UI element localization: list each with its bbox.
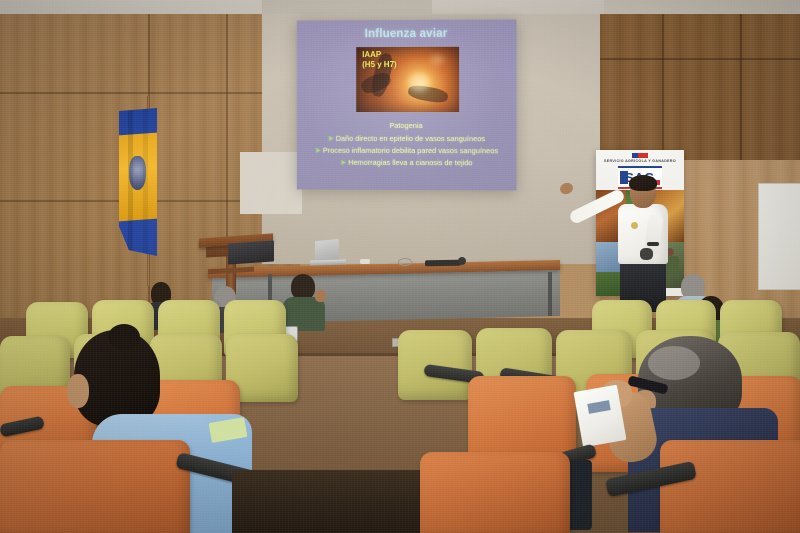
slide-photo-tissue: IAAP (H5 y H7) [356, 47, 459, 112]
slide-bullet-1: ➤Daño directo en epitelio de vasos sangu… [297, 133, 517, 145]
slide-body: Patogenia ➤Daño directo en epitelio de v… [297, 120, 517, 169]
table-cable-loop [398, 258, 412, 266]
attendee-ear [67, 374, 89, 408]
handout-paper [573, 385, 626, 448]
banner-tagline: SERVICIO AGRÍCOLA Y GANADERO [596, 159, 684, 163]
bullet-marker-icon: ➤ [328, 134, 334, 143]
slide-bullet-3-text: Hemorragias lleva a cianosis de tejido [348, 158, 472, 167]
ceiling-soffit-step [262, 0, 432, 14]
slide-photo-label-line1: IAAP [362, 50, 381, 59]
presenter [600, 170, 684, 310]
table-round-object [458, 257, 466, 265]
bullet-marker-icon: ➤ [315, 146, 321, 155]
slide-section-heading: Patogenia [297, 120, 517, 132]
slide-bullet-2: ➤Proceso inflamatorio debilita pared vas… [297, 145, 517, 158]
slide-bullet-2-text: Proceso inflamatorio debilita pared vaso… [323, 146, 498, 155]
whiteboard-panel [758, 183, 800, 290]
auditorium-photo: Influenza aviar IAAP (H5 y H7) Patogenia… [0, 0, 800, 533]
slide-bullet-1-text: Daño directo en epitelio de vasos sanguí… [336, 134, 485, 143]
slide-bullet-3: ➤Hemorragias lleva a cianosis de tejido [297, 157, 517, 170]
slide-title: Influenza aviar [297, 28, 517, 41]
chair-orange[interactable] [660, 440, 800, 533]
table-small-object [360, 259, 370, 264]
regional-flag [119, 108, 157, 256]
table-dark-object [425, 260, 461, 267]
slide-photo-label: IAAP (H5 y H7) [362, 50, 397, 70]
lectern-laptop [228, 240, 274, 264]
projection-screen: Influenza aviar IAAP (H5 y H7) Patogenia… [297, 19, 517, 190]
chair-orange[interactable] [0, 440, 190, 533]
presenter-shirt-logo [631, 222, 638, 229]
bullet-marker-icon: ➤ [340, 158, 346, 167]
slide-content: Influenza aviar IAAP (H5 y H7) Patogenia… [297, 19, 517, 190]
wall-panel-small [240, 152, 302, 214]
slide-photo-label-line2: (H5 y H7) [362, 60, 397, 69]
chile-flag-mark-icon [632, 153, 648, 158]
presenter-watch [647, 242, 659, 246]
table-leg [548, 272, 552, 316]
chair-orange[interactable] [420, 452, 570, 533]
